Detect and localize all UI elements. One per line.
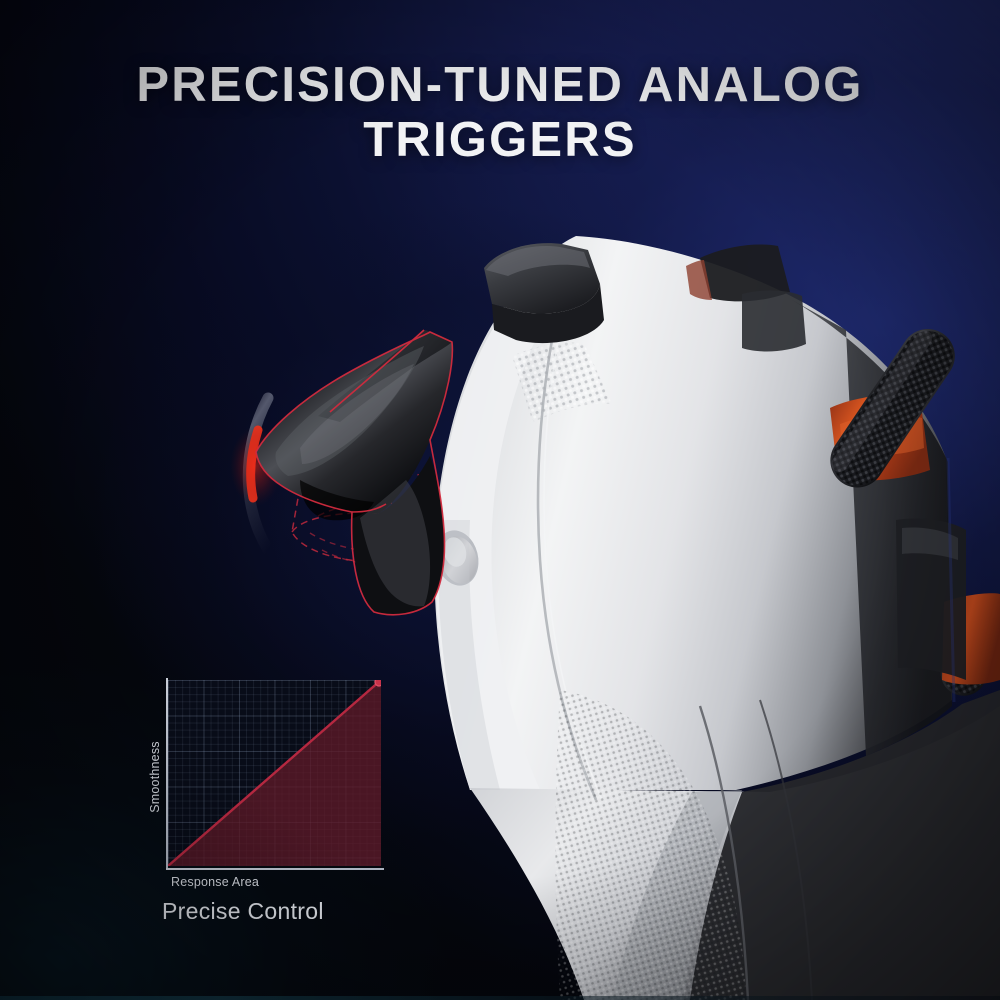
bottom-edge-strip (0, 996, 1000, 1000)
product-feature-image: PRECISION-TUNED ANALOG TRIGGERS (0, 0, 1000, 1000)
vignette-overlay (0, 0, 1000, 1000)
